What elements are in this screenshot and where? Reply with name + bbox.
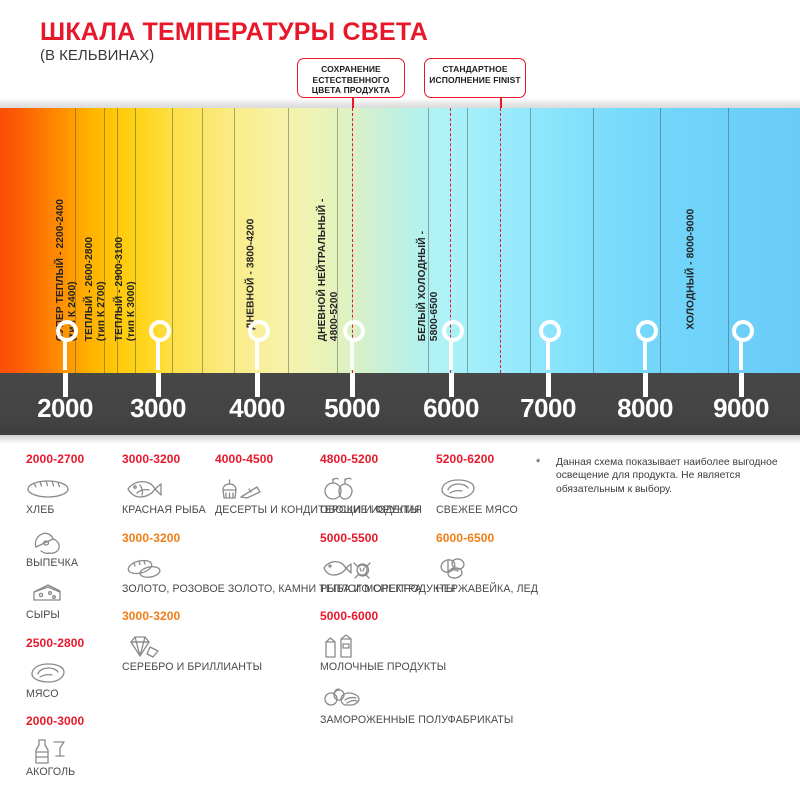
legend-range-label: 5000-6000: [320, 609, 513, 623]
callout-stem: [352, 98, 354, 108]
band-divider: [202, 108, 203, 373]
page-title: ШКАЛА ТЕМПЕРАТУРЫ СВЕТА: [40, 18, 428, 47]
band-label: ТЕПЛЫЙ - 2900-3100(тип К 3000): [114, 237, 137, 341]
band-label-line: 4800-5200: [328, 198, 340, 341]
footnote: * Данная схема показывает наиболее выгод…: [536, 456, 792, 496]
fresh-meat-icon: [436, 473, 538, 503]
legend-column: 2000-2700ХЛЕБВЫПЕЧКАСЫРЫ2500-2800МЯСО200…: [26, 452, 84, 793]
legend-item-label: ХЛЕБ: [26, 504, 84, 517]
marker-ring-icon: [539, 320, 561, 342]
band-label-line: БЕЛЫЙ ХОЛОДНЫЙ -: [417, 231, 429, 341]
legend-range-label: 6000-6500: [436, 531, 538, 545]
meat-icon: [26, 657, 84, 687]
legend-range-label: 5200-6200: [436, 452, 538, 466]
legend-item: ЗАМОРОЖЕННЫЕ ПОЛУФАБРИКАТЫ: [320, 683, 513, 727]
band-label-line: (тип К 2700): [95, 237, 107, 341]
band-divider: [593, 108, 594, 373]
legend-item: СЫРЫ: [26, 578, 84, 622]
legend-item-label: АКОГОЛЬ: [26, 766, 84, 779]
band-divider: [172, 108, 173, 373]
legend-column: 5200-6200СВЕЖЕЕ МЯСО6000-6500НЕРЖАВЕЙКА,…: [436, 452, 538, 609]
band-label-line: ТЕПЛЫЙ - 2900-3100: [114, 237, 126, 341]
bread-icon: [26, 473, 84, 503]
callout-stem: [500, 98, 502, 108]
strip-top-shadow: [0, 98, 800, 108]
marker-stem: [63, 340, 67, 370]
band-label: ДНЕВНОЙ НЕЙТРАЛЬНЫЙ -4800-5200: [317, 198, 340, 341]
legend-range-label: 2000-2700: [26, 452, 84, 466]
marker-ring-icon: [442, 320, 464, 342]
legend-item-label: ВЫПЕЧКА: [26, 557, 84, 570]
legend-item: ХЛЕБ: [26, 473, 84, 517]
alcohol-icon: [26, 735, 84, 765]
legend-group: 5200-6200СВЕЖЕЕ МЯСО: [436, 452, 538, 517]
legend-item-label: ЗАМОРОЖЕННЫЕ ПОЛУФАБРИКАТЫ: [320, 714, 513, 727]
pastry-icon: [26, 526, 84, 556]
legend-item: МЯСО: [26, 657, 84, 701]
marker-ring-icon: [248, 320, 270, 342]
band-label: БЕЛЫЙ ХОЛОДНЫЙ -5800-6500: [417, 231, 440, 341]
marker-stem: [350, 340, 354, 370]
marker-ring-icon: [732, 320, 754, 342]
legend-item: ВЫПЕЧКА: [26, 526, 84, 570]
legend-group: 5000-6000МОЛОЧНЫЕ ПРОДУКТЫЗАМОРОЖЕННЫЕ П…: [320, 609, 513, 726]
marker-stem: [156, 340, 160, 370]
band-divider: [288, 108, 289, 373]
marker-ring-icon: [636, 320, 658, 342]
frozen-food-icon: [320, 683, 513, 713]
legend-item: МОЛОЧНЫЕ ПРОДУКТЫ: [320, 630, 513, 674]
callout-box: СТАНДАРТНОЕ ИСПОЛНЕНИЕ FINIST: [424, 58, 526, 98]
band-divider: [660, 108, 661, 373]
band-label: ХОЛОДНЫЙ - 8000-9000: [685, 209, 697, 330]
legend-item-label: МЯСО: [26, 688, 84, 701]
legend-item-label: СЫРЫ: [26, 609, 84, 622]
dairy-icon: [320, 630, 513, 660]
marker-stem: [449, 340, 453, 370]
band-divider: [234, 108, 235, 373]
legend-group: 6000-6500НЕРЖАВЕЙКА, ЛЕД: [436, 531, 538, 596]
band-divider: [530, 108, 531, 373]
band-divider: [728, 108, 729, 373]
callout-box: СОХРАНЕНИЕ ЕСТЕСТВЕННОГО ЦВЕТА ПРОДУКТА: [297, 58, 405, 98]
legend-group: 2000-2700ХЛЕБВЫПЕЧКАСЫРЫ: [26, 452, 84, 622]
footnote-text: Данная схема показывает наиболее выгодно…: [556, 456, 792, 496]
band-label-line: ДНЕВНОЙ НЕЙТРАЛЬНЫЙ -: [317, 198, 329, 341]
marker-ring-icon: [56, 320, 78, 342]
marker-ring-icon: [149, 320, 171, 342]
footnote-star: *: [536, 457, 540, 470]
scale-tick-label: 9000: [681, 393, 800, 424]
legend-item: АКОГОЛЬ: [26, 735, 84, 779]
marker-ring-icon: [343, 320, 365, 342]
legend-group: 2000-3000АКОГОЛЬ: [26, 714, 84, 779]
legend-group: 2500-2800МЯСО: [26, 636, 84, 701]
band-label: ТЕПЛЫЙ - 2600-2800(тип К 2700): [84, 237, 107, 341]
legend-item-label: СВЕЖЕЕ МЯСО: [436, 504, 538, 517]
legend-item-label: МОЛОЧНЫЕ ПРОДУКТЫ: [320, 661, 513, 674]
band-label-line: 5800-6500: [428, 231, 440, 341]
legend-range-label: 2000-3000: [26, 714, 84, 728]
marker-stem: [546, 340, 550, 370]
marker-stem: [643, 340, 647, 370]
marker-stem: [739, 340, 743, 370]
legend-item: СВЕЖЕЕ МЯСО: [436, 473, 538, 517]
infographic-page: ШКАЛА ТЕМПЕРАТУРЫ СВЕТА (В КЕЛЬВИНАХ) СО…: [0, 0, 800, 800]
legend-range-label: 2500-2800: [26, 636, 84, 650]
legend-item-label: НЕРЖАВЕЙКА, ЛЕД: [436, 583, 538, 596]
marker-stem: [255, 340, 259, 370]
cheese-icon: [26, 578, 84, 608]
band-divider: [467, 108, 468, 373]
legend-item: НЕРЖАВЕЙКА, ЛЕД: [436, 552, 538, 596]
band-label-line: ТЕПЛЫЙ - 2600-2800: [84, 237, 96, 341]
page-subtitle: (В КЕЛЬВИНАХ): [40, 47, 154, 64]
dashed-marker-line: [500, 108, 501, 373]
band-label-line: (тип К 3000): [125, 237, 137, 341]
scalebar-shadow: [0, 435, 800, 444]
ice-icon: [436, 552, 538, 582]
band-label: ДНЕВНОЙ - 3800-4200: [245, 219, 257, 330]
